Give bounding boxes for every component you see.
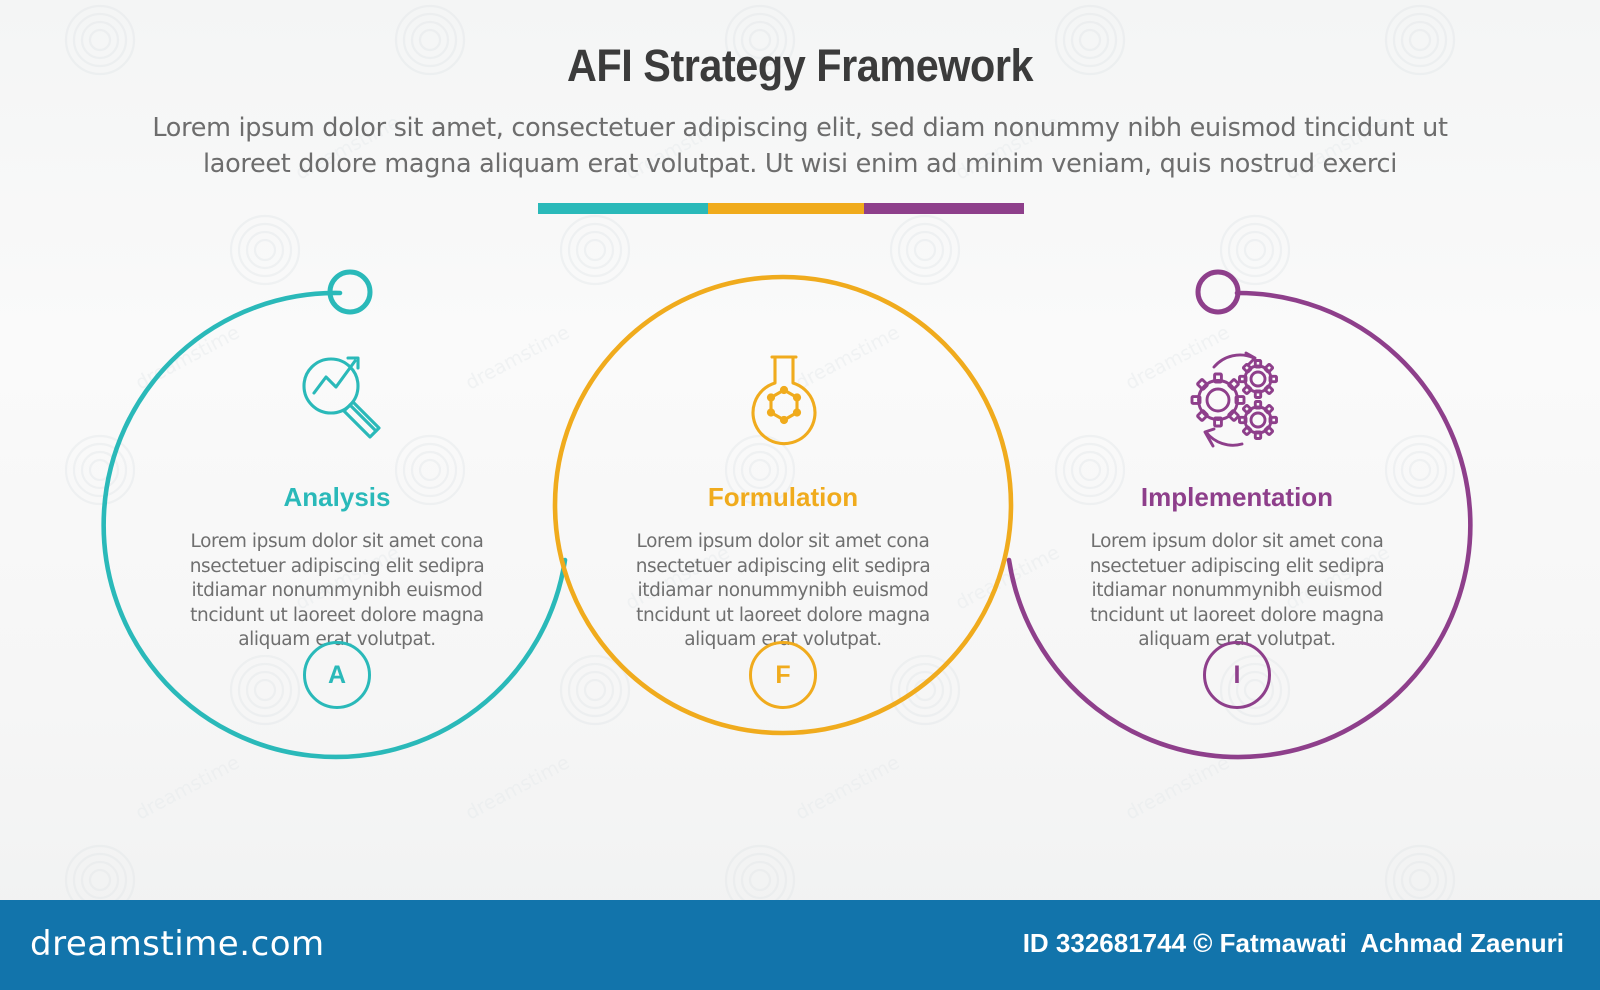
footer-bar: dreamstime.com ID 332681744 © Fatmawati … xyxy=(0,900,1600,990)
section-implementation[interactable]: Implementation Lorem ipsum dolor sit ame… xyxy=(1072,460,1402,653)
section-analysis[interactable]: Analysis Lorem ipsum dolor sit amet cona… xyxy=(172,460,502,653)
badge-letter-implementation: I xyxy=(1234,661,1241,690)
arc-end-marker-implementation xyxy=(1198,272,1238,312)
image-credit: ID 332681744 © Fatmawati Achmad Zaenuri xyxy=(1023,928,1564,959)
infographic-canvas: dreamstime AFI Strategy Fram xyxy=(0,0,1600,990)
badge-implementation[interactable]: I xyxy=(1203,641,1271,709)
gears-cycle-icon xyxy=(1192,353,1277,446)
circles-diagram xyxy=(0,0,1600,900)
section-title-implementation: Implementation xyxy=(1072,482,1402,513)
badge-letter-formulation: F xyxy=(775,661,790,690)
section-title-formulation: Formulation xyxy=(618,482,948,513)
flask-molecule-icon xyxy=(753,357,815,444)
dreamstime-logo[interactable]: dreamstime.com xyxy=(30,924,325,964)
section-body-formulation: Lorem ipsum dolor sit amet cona nsectetu… xyxy=(618,530,948,653)
badge-letter-analysis: A xyxy=(328,661,346,690)
dreamstime-logo-text: dreamstime.com xyxy=(30,924,325,964)
section-body-implementation: Lorem ipsum dolor sit amet cona nsectetu… xyxy=(1072,530,1402,653)
section-title-analysis: Analysis xyxy=(172,482,502,513)
section-body-analysis: Lorem ipsum dolor sit amet cona nsectetu… xyxy=(172,530,502,653)
badge-formulation[interactable]: F xyxy=(749,641,817,709)
section-formulation[interactable]: Formulation Lorem ipsum dolor sit amet c… xyxy=(618,460,948,653)
badge-analysis[interactable]: A xyxy=(303,641,371,709)
magnifier-chart-icon xyxy=(304,358,379,437)
